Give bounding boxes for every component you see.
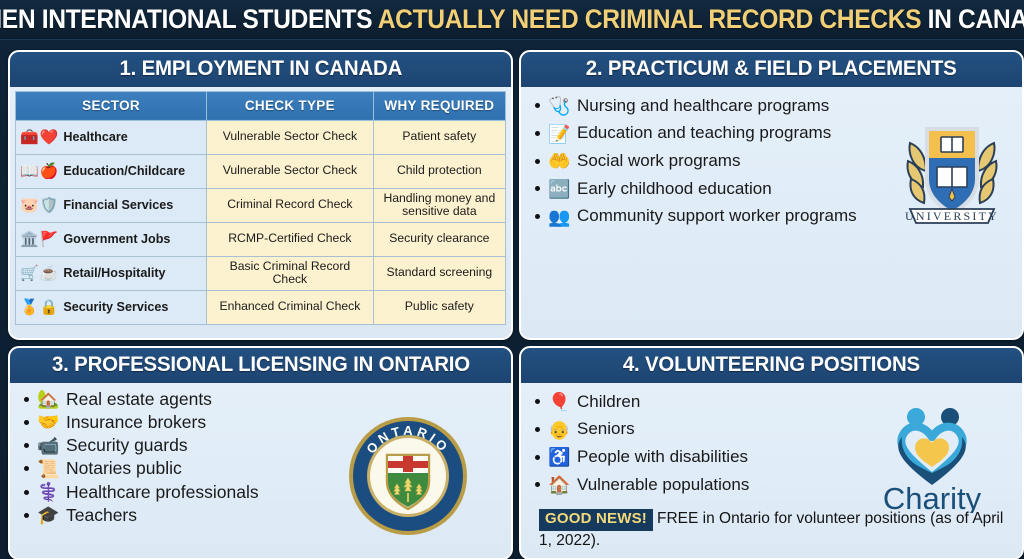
bullet-dot [535,214,540,219]
panel-practicum-body: UNIVERSITY 🩺Nursing and healthcare progr… [521,87,1022,339]
table-row: 🛒☕Retail/HospitalityBasic Criminal Recor… [16,256,506,290]
panel-practicum-header: 2. PRACTICUM & FIELD PLACEMENTS [521,52,1022,87]
cell-sector: 🧰❤️Healthcare [16,120,207,154]
house-icon: 🏡 [37,390,59,408]
list-item: 👥Community support worker programs [535,207,1014,226]
sector-label: Financial Services [63,198,202,212]
bullet-dot [535,455,540,460]
hands-holding-heart-icon: 🤲 [548,152,570,170]
sector-label: Healthcare [63,130,202,144]
main-title-bar: WHEN INTERNATIONAL STUDENTS ACTUALLY NEE… [0,0,1024,40]
first-aid-kit-icon heart-pulse-icon: 🧰❤️ [20,130,59,145]
cell-check-type: Enhanced Criminal Check [207,290,374,324]
list-item-label: Teachers [66,506,137,525]
panel-employment-header: 1. EMPLOYMENT IN CANADA [10,52,511,87]
bullet-dot [535,159,540,164]
list-item: 📜Notaries public [24,459,503,478]
child-with-balloon-icon: 🎈 [548,393,570,411]
column-header-sector: SECTOR [16,91,207,120]
list-item: 📹Security guards [24,436,503,455]
stethoscope-icon: 🩺 [548,97,570,115]
list-item-label: Education and teaching programs [577,124,831,143]
panel-volunteering: 4. VOLUNTEERING POSITIONS Charity 🎈Child… [519,346,1024,559]
cell-check-type: Vulnerable Sector Check [207,120,374,154]
bullet-dot [24,443,29,448]
panel-employment-body: SECTOR CHECK TYPE WHY REQUIRED 🧰❤️Health… [10,87,511,339]
sector-label: Security Services [63,300,202,314]
cell-sector: 📖🍎Education/Childcare [16,154,207,188]
bullet-dot [24,397,29,402]
chalkboard-icon: 📝 [548,125,570,143]
bullet-dot [535,186,540,191]
panel-volunteering-header: 4. VOLUNTEERING POSITIONS [521,348,1022,383]
list-item-label: Security guards [66,436,188,455]
bullet-dot [24,490,29,495]
diploma-icon: 🎓 [37,506,59,524]
list-item: 🤲Social work programs [535,152,1014,171]
good-news-note: GOOD NEWS!FREE in Ontario for volunteer … [539,509,1010,550]
list-item: 🏠Vulnerable populations [535,476,1014,495]
panel-employment: 1. EMPLOYMENT IN CANADA SECTOR CHECK TYP… [8,50,513,340]
cell-why-required: Public safety [373,290,505,324]
handshake-icon: 🤝 [37,413,59,431]
column-header-why-required: WHY REQUIRED [373,91,505,120]
panel-licensing-header: 3. PROFESSIONAL LICENSING IN ONTARIO [10,348,511,383]
panel-grid: 1. EMPLOYMENT IN CANADA SECTOR CHECK TYP… [0,44,1024,559]
cell-why-required: Standard screening [373,256,505,290]
list-item: 🩺Nursing and healthcare programs [535,97,1014,116]
panel-licensing-title: 3. PROFESSIONAL LICENSING IN ONTARIO [52,354,470,376]
cell-why-required: Handling money and sensitive data [373,188,505,222]
table-row: 🧰❤️HealthcareVulnerable Sector CheckPati… [16,120,506,154]
bullet-dot [24,466,29,471]
panel-practicum-title: 2. PRACTICUM & FIELD PLACEMENTS [586,58,957,80]
page-title-part3: IN CANADA [928,4,1024,34]
wheelchair-icon: ♿ [548,448,570,466]
group-of-people-icon: 👥 [548,208,570,226]
employment-table: SECTOR CHECK TYPE WHY REQUIRED 🧰❤️Health… [15,91,506,325]
list-item: 🎓Teachers [24,506,503,525]
security-camera-icon: 📹 [37,437,59,455]
page-title-part1: WHEN INTERNATIONAL STUDENTS [0,4,372,34]
column-header-check-type: CHECK TYPE [207,91,374,120]
table-header-row: SECTOR CHECK TYPE WHY REQUIRED [16,91,506,120]
list-item-label: Vulnerable populations [577,476,749,495]
list-item-label: Healthcare professionals [66,483,259,502]
cell-check-type: RCMP-Certified Check [207,222,374,256]
alphabet-blocks-icon: 🔤 [548,180,570,198]
cell-why-required: Patient safety [373,120,505,154]
caduceus-icon: ⚕️ [37,483,59,501]
table-row: 🏛️🚩Government JobsRCMP-Certified CheckSe… [16,222,506,256]
panel-licensing: 3. PROFESSIONAL LICENSING IN ONTARIO ONT… [8,346,513,559]
cell-check-type: Basic Criminal Record Check [207,256,374,290]
table-row: 🐷🛡️Financial ServicesCriminal Record Che… [16,188,506,222]
list-item-label: Real estate agents [66,390,212,409]
table-row: 📖🍎Education/ChildcareVulnerable Sector C… [16,154,506,188]
list-item-label: Social work programs [577,152,740,171]
sector-label: Retail/Hospitality [63,266,202,280]
scroll-document-icon: 📜 [37,460,59,478]
bullet-dot [535,482,540,487]
list-item: 🏡Real estate agents [24,390,503,409]
bullet-dot [24,420,29,425]
bullet-dot [535,103,540,108]
list-item-label: Children [577,393,640,412]
panel-volunteering-body: Charity 🎈Children👴Seniors♿People with di… [521,383,1022,559]
list-item: 📝Education and teaching programs [535,124,1014,143]
government-building-icon flag-icon: 🏛️🚩 [20,232,59,247]
cell-why-required: Child protection [373,154,505,188]
sector-label: Education/Childcare [63,164,202,178]
table-row: 🏅🔒Security ServicesEnhanced Criminal Che… [16,290,506,324]
list-item: 🤝Insurance brokers [24,413,503,432]
cell-sector: 🐷🛡️Financial Services [16,188,207,222]
panel-practicum: 2. PRACTICUM & FIELD PLACEMENTS [519,50,1024,340]
list-item-label: People with disabilities [577,448,748,467]
open-book-icon apple-icon: 📖🍎 [20,164,59,179]
page-title: WHEN INTERNATIONAL STUDENTS ACTUALLY NEE… [0,6,1024,33]
cell-sector: 🛒☕Retail/Hospitality [16,256,207,290]
list-item: 👴Seniors [535,420,1014,439]
page-title-part2: ACTUALLY NEED CRIMINAL RECORD CHECKS [378,4,921,34]
volunteering-list: 🎈Children👴Seniors♿People with disabiliti… [521,383,1022,510]
cell-why-required: Security clearance [373,222,505,256]
elderly-couple-icon: 👴 [548,421,570,439]
cell-sector: 🏛️🚩Government Jobs [16,222,207,256]
infographic-root: WHEN INTERNATIONAL STUDENTS ACTUALLY NEE… [0,0,1024,559]
list-item-label: Seniors [577,420,635,439]
cell-check-type: Criminal Record Check [207,188,374,222]
list-item: ♿People with disabilities [535,448,1014,467]
cell-sector: 🏅🔒Security Services [16,290,207,324]
panel-employment-title: 1. EMPLOYMENT IN CANADA [119,58,402,80]
licensing-list: 🏡Real estate agents🤝Insurance brokers📹Se… [10,383,511,536]
list-item-label: Notaries public [66,459,182,478]
practicum-list: 🩺Nursing and healthcare programs📝Educati… [521,87,1022,241]
shopping-cart-icon coffee-cup-icon: 🛒☕ [20,266,59,281]
panel-volunteering-title: 4. VOLUNTEERING POSITIONS [623,354,920,376]
list-item-label: Insurance brokers [66,413,206,432]
piggy-bank-icon shield-check-icon: 🐷🛡️ [20,198,59,213]
bullet-dot [24,513,29,518]
list-item-label: Nursing and healthcare programs [577,97,829,116]
list-item: 🎈Children [535,393,1014,412]
panel-licensing-body: ONTARIO 🏡 [10,383,511,559]
list-item-label: Early childhood education [577,180,772,199]
bullet-dot [535,427,540,432]
list-item: 🔤Early childhood education [535,180,1014,199]
good-news-badge: GOOD NEWS! [539,509,653,531]
list-item: ⚕️Healthcare professionals [24,483,503,502]
list-item-label: Community support worker programs [577,207,857,226]
shelter-home-icon: 🏠 [548,476,570,494]
police-badge-icon padlock-icon: 🏅🔒 [20,300,59,315]
bullet-dot [535,131,540,136]
sector-label: Government Jobs [63,232,202,246]
bullet-dot [535,399,540,404]
cell-check-type: Vulnerable Sector Check [207,154,374,188]
